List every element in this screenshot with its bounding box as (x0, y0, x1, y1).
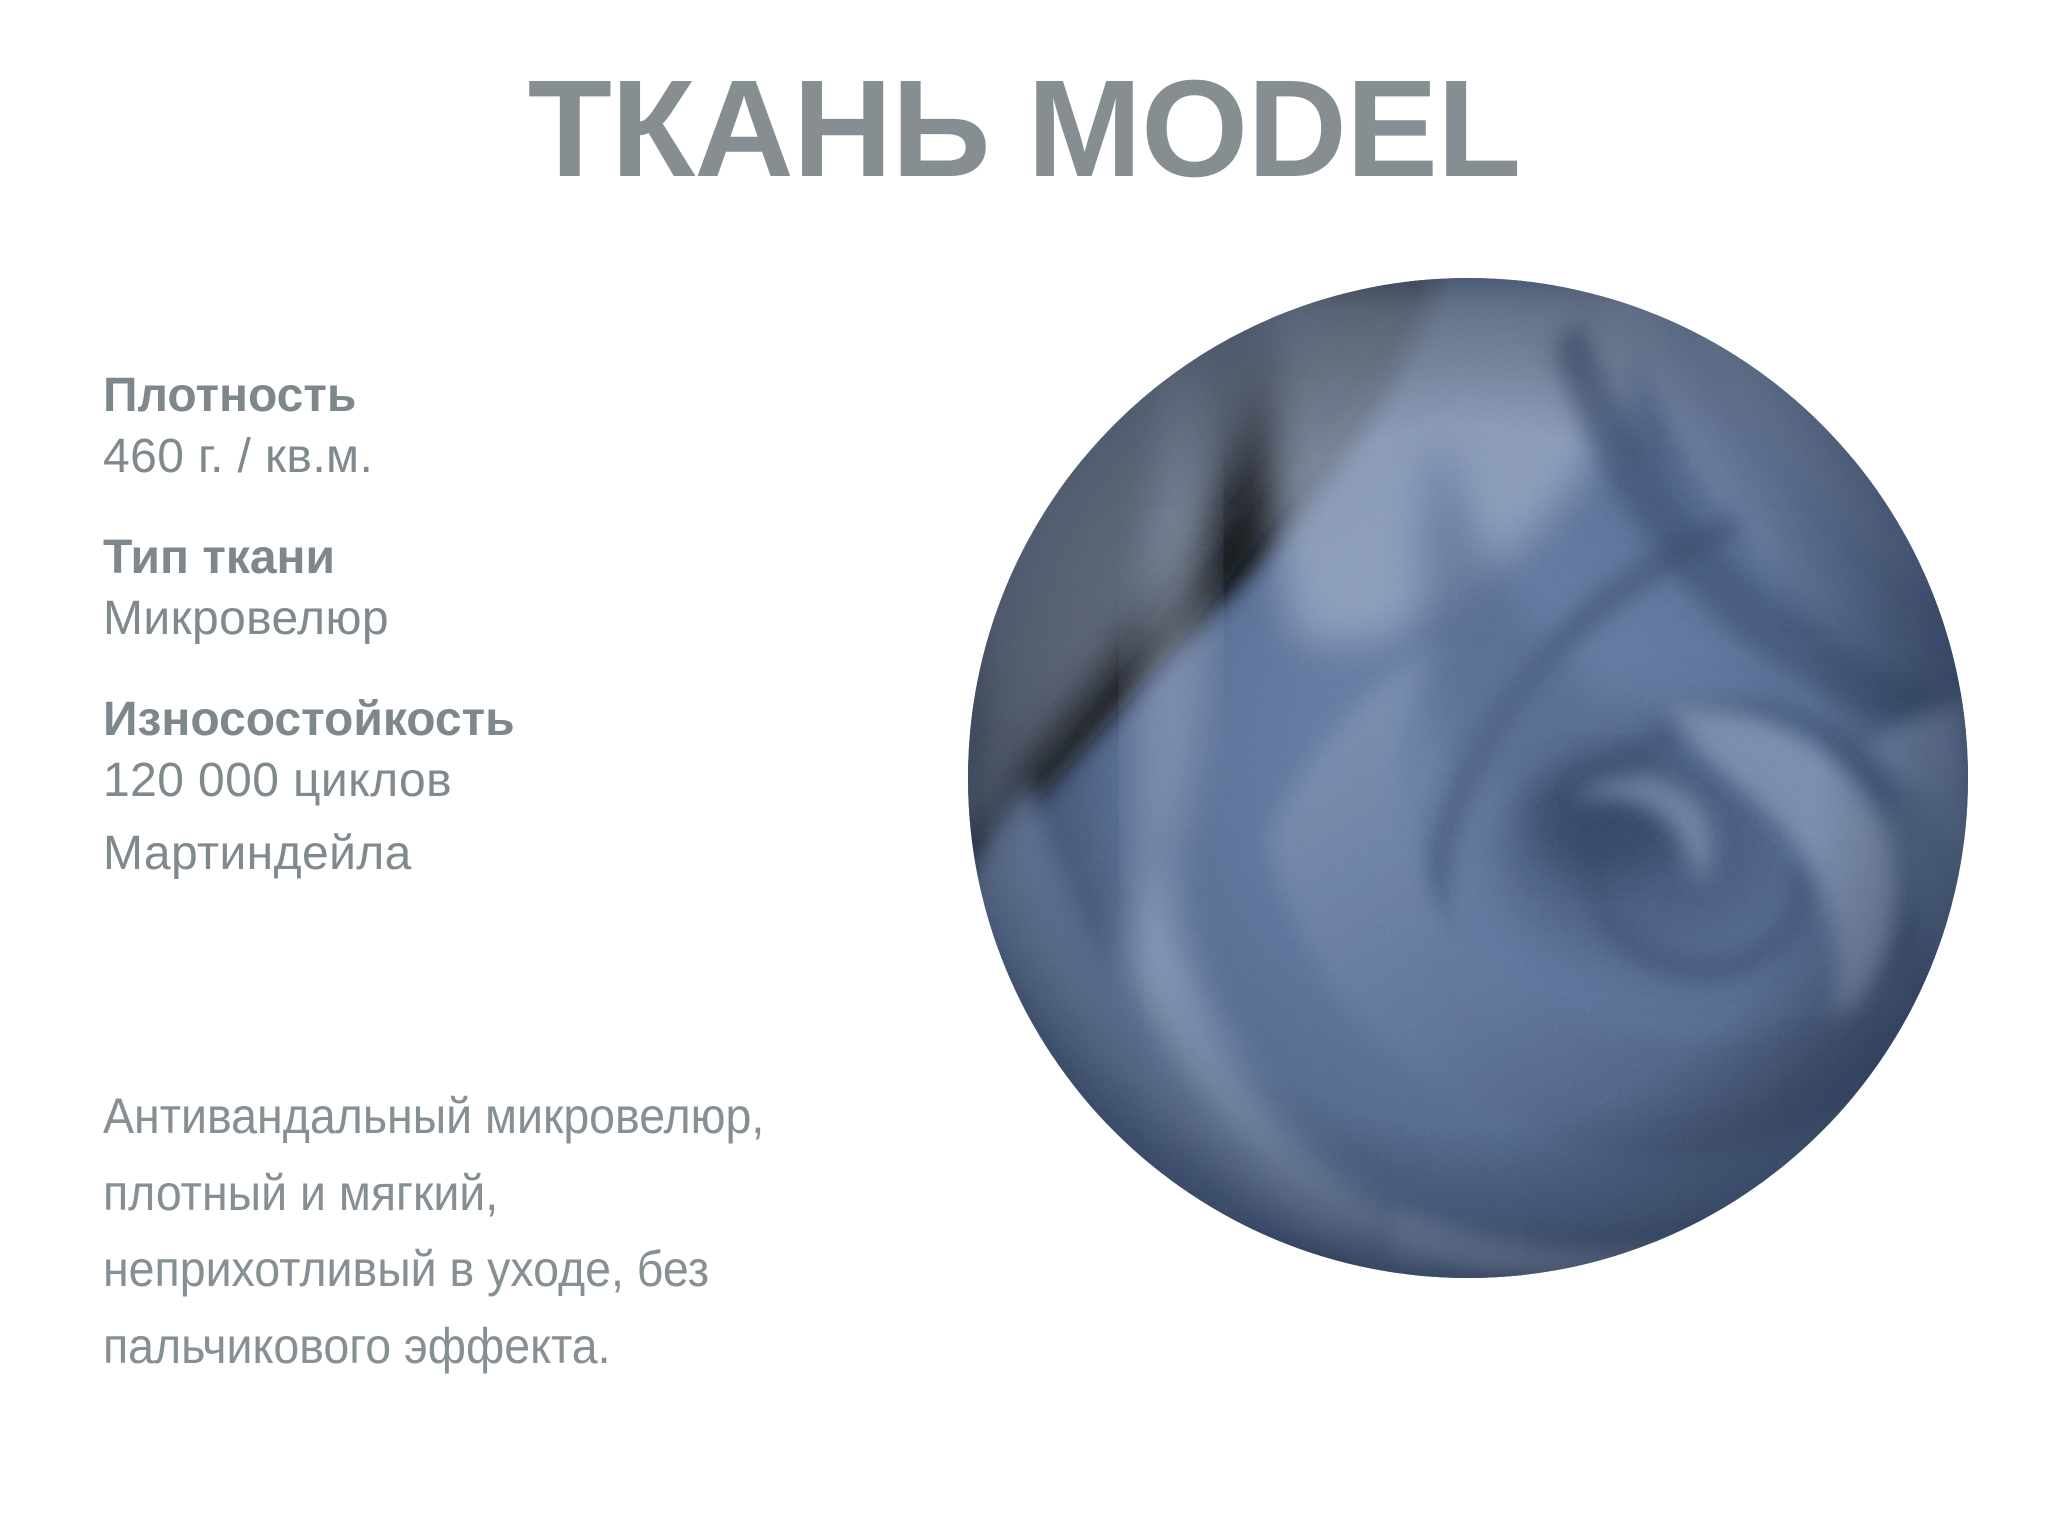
specs-list: Плотность 460 г. / кв.м. Тип ткани Микро… (103, 368, 883, 927)
page-title: ТКАНЬ MODEL (0, 55, 2048, 204)
spec-value-durability-line1: 120 000 циклов (103, 754, 452, 807)
spec-item-fabric-type: Тип ткани Микровелюр (103, 530, 883, 650)
spec-value-density: 460 г. / кв.м. (103, 425, 883, 488)
fabric-illustration (968, 278, 1968, 1278)
spec-value-durability: 120 000 циклов Мартиндейла (103, 749, 883, 886)
spec-value-durability-line2: Мартиндейла (103, 822, 883, 885)
fabric-swatch-photo (968, 278, 1968, 1278)
spec-item-durability: Износостойкость 120 000 циклов Мартиндей… (103, 692, 883, 885)
spec-label-density: Плотность (103, 368, 883, 425)
spec-value-density-line1: 460 г. / кв.м. (103, 430, 373, 483)
spec-value-fabric-type-line1: Микровелюр (103, 592, 389, 645)
fabric-info-slide: ТКАНЬ MODEL Плотность 460 г. / кв.м. Тип… (0, 0, 2048, 1536)
description-line-1: Антивандальный микровелюр, (103, 1078, 968, 1155)
spec-value-fabric-type: Микровелюр (103, 587, 883, 650)
description-line-4: пальчикового эффекта. (103, 1308, 968, 1385)
description-line-2: плотный и мягкий, (103, 1155, 968, 1232)
spec-item-density: Плотность 460 г. / кв.м. (103, 368, 883, 488)
description-line-3: неприхотливый в уходе, без (103, 1231, 968, 1308)
spec-label-fabric-type: Тип ткани (103, 530, 883, 587)
spec-label-durability: Износостойкость (103, 692, 883, 749)
description-paragraph: Антивандальный микровелюр, плотный и мяг… (103, 1078, 968, 1384)
